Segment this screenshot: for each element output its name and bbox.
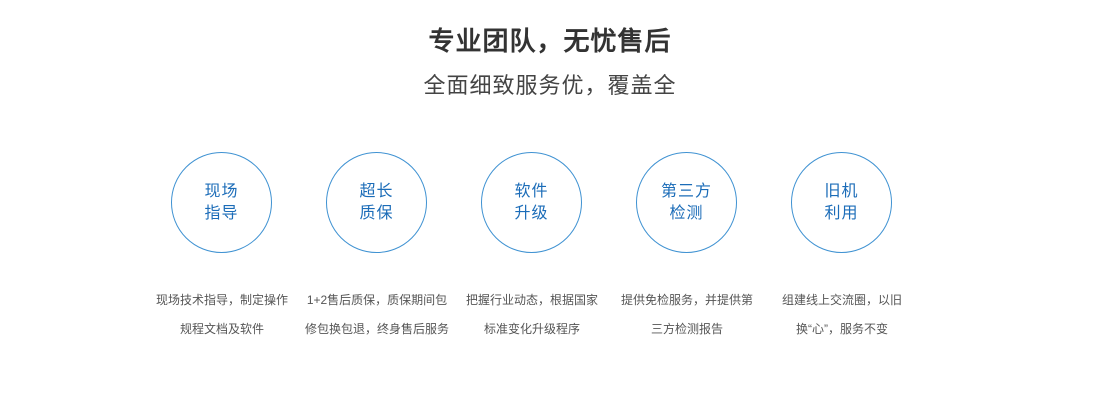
circle-label-line1-5: 旧机 [824,181,858,203]
circle-label-line2-1: 指导 [204,203,238,225]
feature-captions-row: 现场技术指导，制定操作 规程文档及软件 1+2售后质保，质保期间包 修包换包退，… [0,286,1100,346]
circle-label-line2-2: 质保 [359,203,393,225]
caption-line1-3: 把握行业动态，根据国家 [442,286,622,315]
feature-caption-1: 现场技术指导，制定操作 规程文档及软件 [132,286,312,344]
circle-label-line1-2: 超长 [359,181,393,203]
feature-circle-3[interactable]: 软件 升级 [481,152,582,253]
circle-label-line2-3: 升级 [514,203,548,225]
circle-shape-1[interactable]: 现场 指导 [171,152,272,253]
feature-caption-4: 提供免检服务，并提供第 三方检测报告 [597,286,777,344]
circle-shape-3[interactable]: 软件 升级 [481,152,582,253]
feature-circles-row: 现场 指导 超长 质保 软件 升级 第三方 检测 旧机 [171,152,893,253]
feature-caption-5: 组建线上交流圈，以旧 换“心”，服务不变 [752,286,932,344]
caption-line2-5: 换“心”，服务不变 [752,315,932,344]
caption-line2-3: 标准变化升级程序 [442,315,622,344]
feature-circle-5[interactable]: 旧机 利用 [791,152,892,253]
page-subtitle: 全面细致服务优，覆盖全 [0,70,1100,102]
feature-circle-2[interactable]: 超长 质保 [326,152,427,253]
circle-shape-2[interactable]: 超长 质保 [326,152,427,253]
caption-line1-2: 1+2售后质保，质保期间包 [287,286,467,315]
caption-line1-1: 现场技术指导，制定操作 [132,286,312,315]
feature-circle-4[interactable]: 第三方 检测 [636,152,737,253]
circle-shape-5[interactable]: 旧机 利用 [791,152,892,253]
feature-caption-2: 1+2售后质保，质保期间包 修包换包退，终身售后服务 [287,286,467,344]
circle-label-line1-4: 第三方 [661,181,712,203]
circle-label-line1-3: 软件 [514,181,548,203]
caption-line1-5: 组建线上交流圈，以旧 [752,286,932,315]
circle-label-line1-1: 现场 [204,181,238,203]
caption-line1-4: 提供免检服务，并提供第 [597,286,777,315]
circle-label-line2-5: 利用 [824,203,858,225]
service-feature-banner: 专业团队，无忧售后 全面细致服务优，覆盖全 现场 指导 超长 质保 软件 升级 … [0,0,1100,404]
caption-line2-1: 规程文档及软件 [132,315,312,344]
caption-line2-2: 修包换包退，终身售后服务 [287,315,467,344]
heading-block: 专业团队，无忧售后 全面细致服务优，覆盖全 [0,24,1100,102]
page-title: 专业团队，无忧售后 [0,24,1100,58]
feature-caption-3: 把握行业动态，根据国家 标准变化升级程序 [442,286,622,344]
caption-line2-4: 三方检测报告 [597,315,777,344]
feature-circle-1[interactable]: 现场 指导 [171,152,272,253]
circle-shape-4[interactable]: 第三方 检测 [636,152,737,253]
circle-label-line2-4: 检测 [669,203,703,225]
